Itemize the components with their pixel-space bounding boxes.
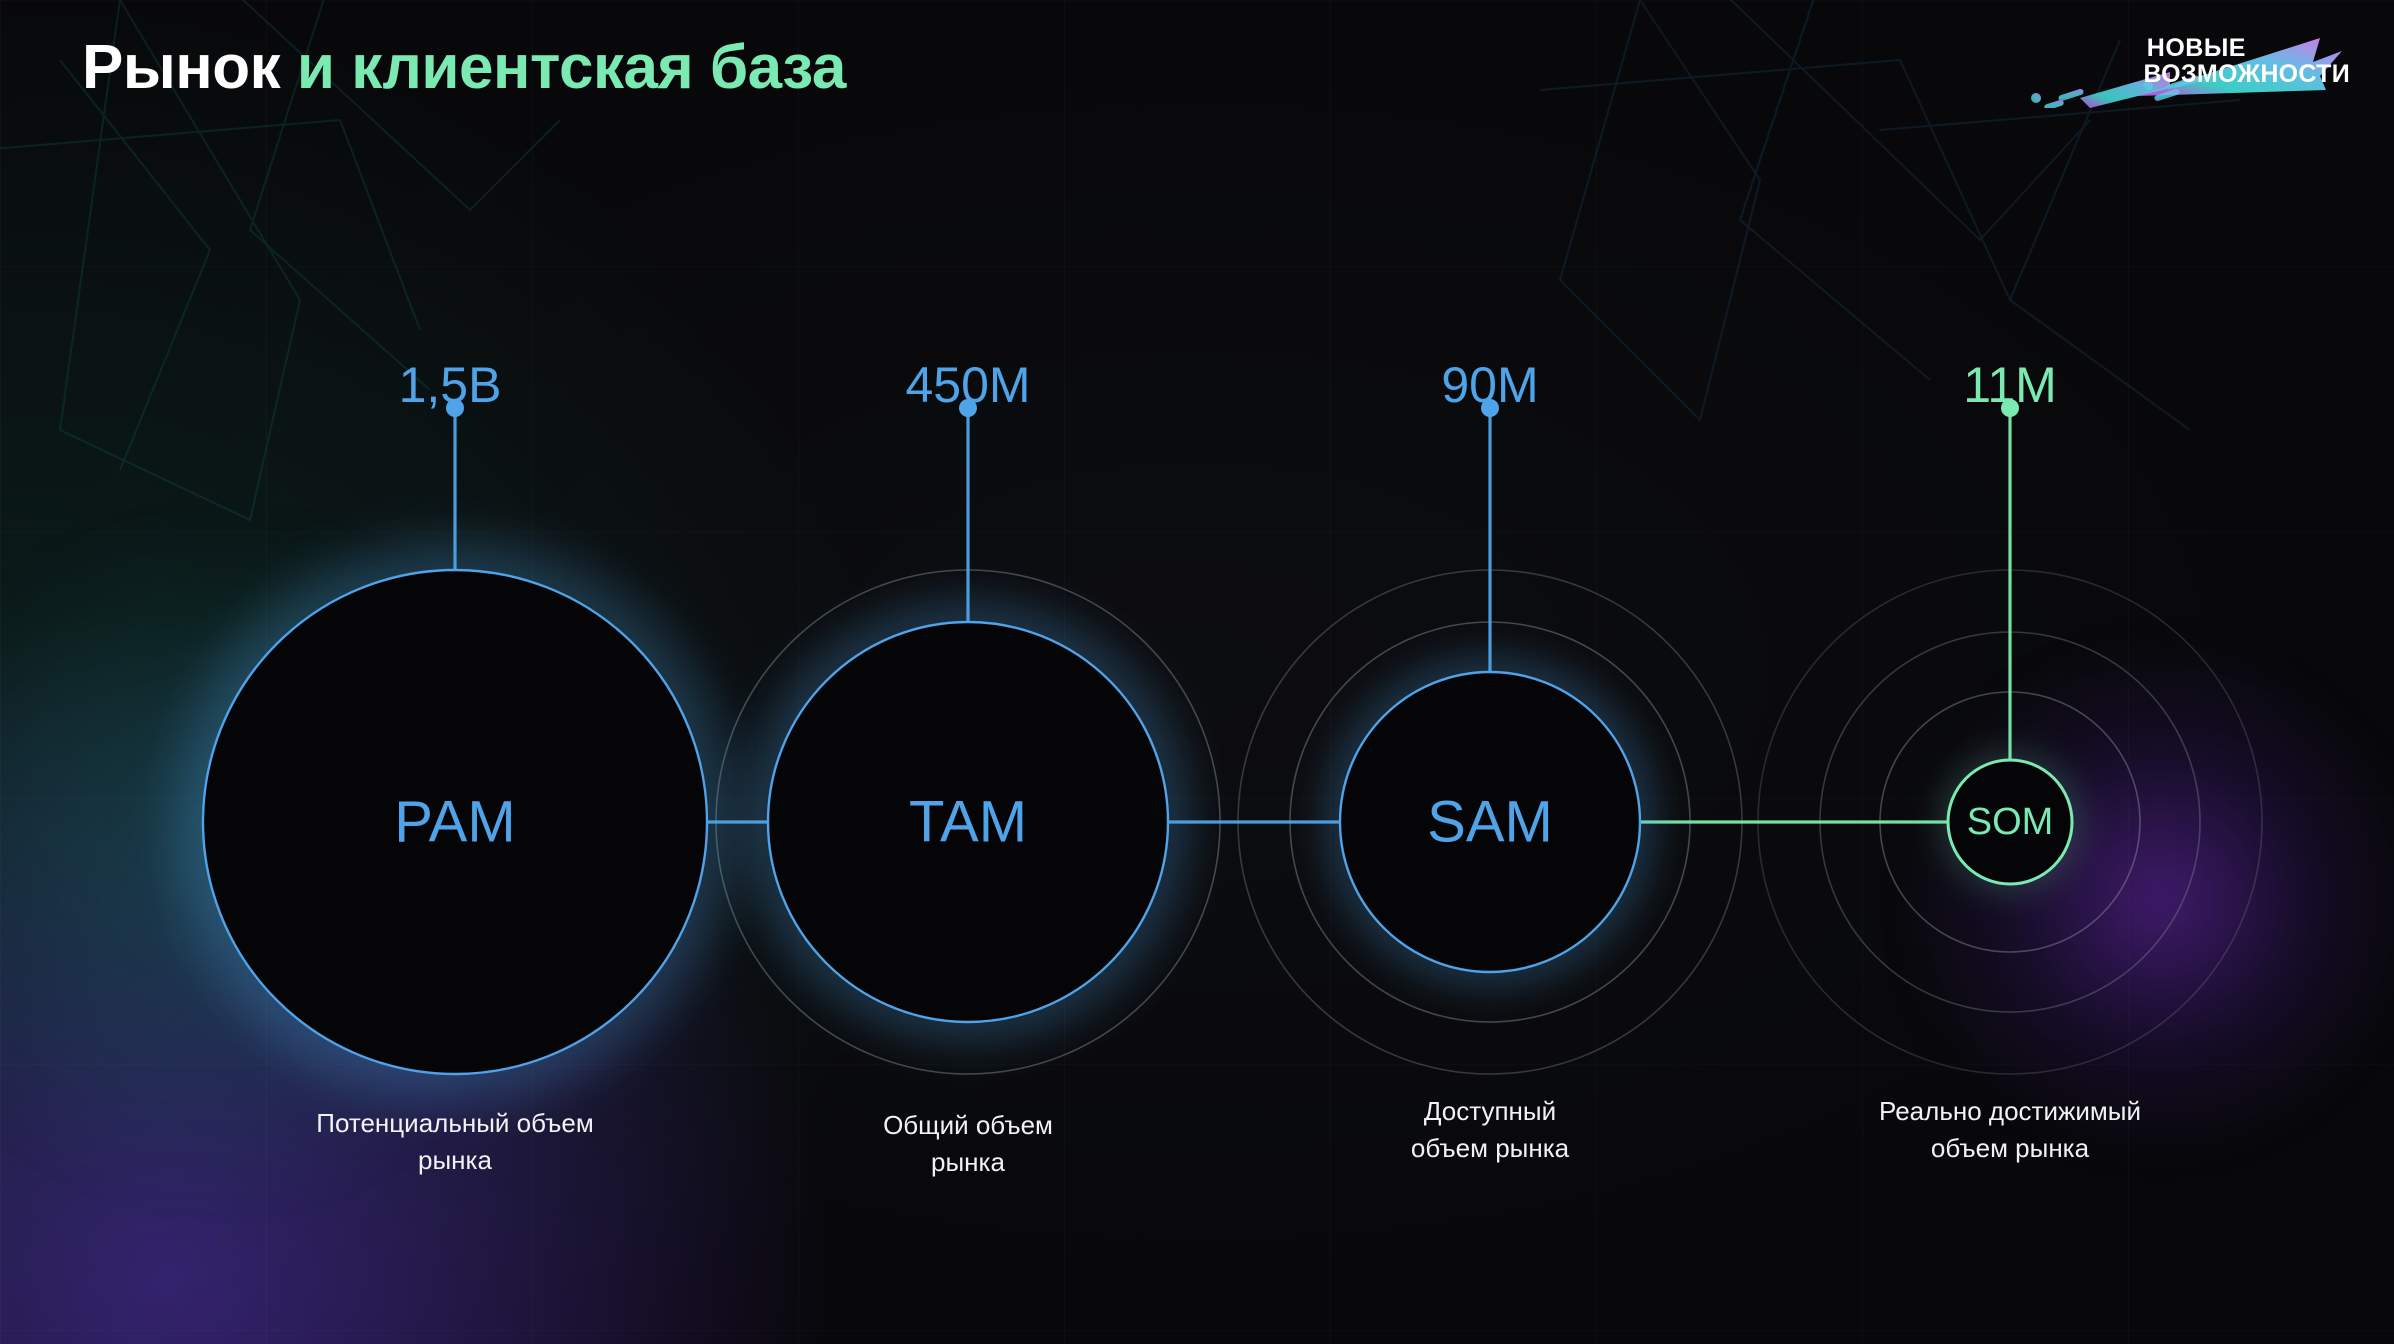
value-label-sam: 90M xyxy=(1441,356,1538,414)
slide-canvas: Рынок и клиентская база xyxy=(0,0,2394,1344)
value-label-tam: 450M xyxy=(905,356,1030,414)
caption-tam: Общий объем рынка xyxy=(883,1107,1053,1181)
value-label-pam: 1,5B xyxy=(399,356,502,414)
circle-label-pam: PAM xyxy=(394,790,515,855)
circle-label-sam: SAM xyxy=(1427,790,1553,855)
circle-label-som: SOM xyxy=(1967,801,2054,843)
caption-pam: Потенциальный объем рынка xyxy=(316,1105,593,1179)
value-label-som: 11M xyxy=(1963,356,2057,414)
caption-sam: Доступный объем рынка xyxy=(1411,1093,1569,1167)
caption-som: Реально достижимый объем рынка xyxy=(1879,1093,2141,1167)
circle-label-tam: TAM xyxy=(909,790,1027,855)
